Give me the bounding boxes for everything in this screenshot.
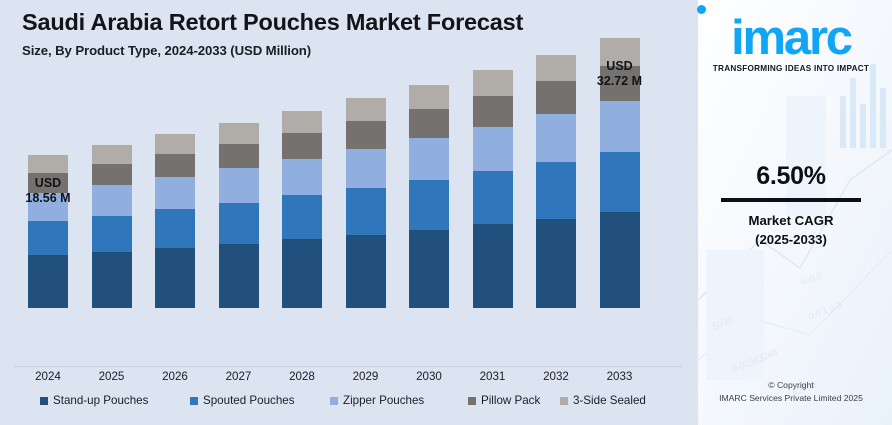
legend-item-pillow-pack[interactable]: Pillow Pack xyxy=(468,394,540,407)
x-axis-tick-2032: 2032 xyxy=(526,370,586,383)
legend-label: Pillow Pack xyxy=(481,394,540,407)
cagr-value: 6.50% xyxy=(690,162,892,191)
chart-infographic: Saudi Arabia Retort Pouches Market Forec… xyxy=(0,0,892,425)
legend-swatch-icon xyxy=(330,397,338,405)
bar-segment[interactable] xyxy=(92,185,132,215)
legend-label: Spouted Pouches xyxy=(203,394,295,407)
cagr-caption: Market CAGR (2025-2033) xyxy=(690,211,892,249)
bar-segment[interactable] xyxy=(473,96,513,127)
bar-segment[interactable] xyxy=(28,221,68,255)
stacked-bar[interactable] xyxy=(473,70,513,308)
bar-segment[interactable] xyxy=(346,121,386,148)
bar-segment[interactable] xyxy=(346,98,386,121)
bar-segment[interactable] xyxy=(282,239,322,308)
bar-segment[interactable] xyxy=(600,101,640,152)
stacked-bar[interactable] xyxy=(409,85,449,308)
stacked-bar[interactable] xyxy=(536,55,576,308)
chart-panel: Saudi Arabia Retort Pouches Market Forec… xyxy=(0,0,690,425)
copyright-block: © Copyright IMARC Services Private Limit… xyxy=(690,379,892,405)
value-label-currency: USD xyxy=(3,176,93,191)
bar-segment[interactable] xyxy=(92,252,132,308)
bar-segment[interactable] xyxy=(473,224,513,308)
bar-segment[interactable] xyxy=(536,55,576,82)
bar-segment[interactable] xyxy=(219,168,259,202)
x-axis-tick-2025: 2025 xyxy=(82,370,142,383)
bar-segment[interactable] xyxy=(409,180,449,230)
bar-segment[interactable] xyxy=(28,155,68,173)
bar-segment[interactable] xyxy=(536,81,576,114)
legend-swatch-icon xyxy=(468,397,476,405)
plot-area: USD18.56 MUSD32.72 M xyxy=(0,0,690,367)
stacked-bar[interactable] xyxy=(282,111,322,308)
bar-segment[interactable] xyxy=(155,134,195,154)
cagr-block: 6.50% Market CAGR (2025-2033) xyxy=(690,162,892,249)
legend-item-3-side-sealed[interactable]: 3-Side Sealed xyxy=(560,394,646,407)
x-axis-tick-2027: 2027 xyxy=(209,370,269,383)
bar-segment[interactable] xyxy=(282,133,322,159)
legend-swatch-icon xyxy=(40,397,48,405)
legend-item-zipper-pouches[interactable]: Zipper Pouches xyxy=(330,394,424,407)
bar-segment[interactable] xyxy=(282,159,322,196)
bar-segment[interactable] xyxy=(409,138,449,180)
legend-item-spouted-pouches[interactable]: Spouted Pouches xyxy=(190,394,295,407)
bar-segment[interactable] xyxy=(473,127,513,172)
copyright-line-1: © Copyright xyxy=(690,379,892,392)
bar-segment[interactable] xyxy=(219,123,259,144)
bar-segment[interactable] xyxy=(536,162,576,219)
copyright-line-2: IMARC Services Private Limited 2025 xyxy=(690,392,892,405)
axis-baseline xyxy=(14,366,682,367)
bar-segment[interactable] xyxy=(409,230,449,308)
stacked-bar[interactable] xyxy=(155,134,195,308)
bar-segment[interactable] xyxy=(219,244,259,308)
imarc-logo: imarc TRANSFORMING IDEAS INTO IMPACT xyxy=(690,14,892,73)
legend-label: Stand-up Pouches xyxy=(53,394,148,407)
x-axis-tick-2024: 2024 xyxy=(18,370,78,383)
bar-segment[interactable] xyxy=(346,188,386,235)
x-axis: 2024202520262027202820292030203120322033 xyxy=(0,370,690,390)
x-axis-tick-2026: 2026 xyxy=(145,370,205,383)
last-value-label: USD32.72 M xyxy=(575,59,665,90)
bar-segment[interactable] xyxy=(282,195,322,239)
bar-segment[interactable] xyxy=(28,255,68,308)
logo-tagline: TRANSFORMING IDEAS INTO IMPACT xyxy=(690,64,892,73)
cagr-label: Market CAGR xyxy=(690,211,892,230)
bar-segment[interactable] xyxy=(409,109,449,138)
cagr-period: (2025-2033) xyxy=(690,230,892,249)
bar-segment[interactable] xyxy=(219,203,259,244)
bar-segment[interactable] xyxy=(282,111,322,133)
x-axis-tick-2029: 2029 xyxy=(336,370,396,383)
value-label-amount: 32.72 M xyxy=(575,74,665,89)
bar-segment[interactable] xyxy=(346,149,386,188)
legend-item-stand-up-pouches[interactable]: Stand-up Pouches xyxy=(40,394,148,407)
value-label-amount: 18.56 M xyxy=(3,191,93,206)
bar-segment[interactable] xyxy=(155,177,195,209)
bar-segment[interactable] xyxy=(219,144,259,168)
bar-segment[interactable] xyxy=(155,209,195,248)
first-value-label: USD18.56 M xyxy=(3,176,93,207)
stacked-bar[interactable] xyxy=(219,123,259,308)
brand-panel: 500.0 5000 0.0 1 2 3 0.01563248 82788 im… xyxy=(690,0,892,425)
x-axis-tick-2028: 2028 xyxy=(272,370,332,383)
x-axis-tick-2030: 2030 xyxy=(399,370,459,383)
bar-segment[interactable] xyxy=(473,70,513,96)
bar-segment[interactable] xyxy=(92,216,132,252)
chart-legend: Stand-up PouchesSpouted PouchesZipper Po… xyxy=(0,394,690,416)
legend-label: 3-Side Sealed xyxy=(573,394,646,407)
bar-segment[interactable] xyxy=(155,248,195,308)
stacked-bar[interactable] xyxy=(92,145,132,308)
bar-segment[interactable] xyxy=(600,152,640,212)
stacked-bar[interactable] xyxy=(346,98,386,308)
bar-segment[interactable] xyxy=(346,235,386,308)
bar-segment[interactable] xyxy=(600,212,640,308)
value-label-currency: USD xyxy=(575,59,665,74)
logo-dot-icon xyxy=(697,5,706,14)
legend-label: Zipper Pouches xyxy=(343,394,424,407)
bar-segment[interactable] xyxy=(473,171,513,224)
legend-swatch-icon xyxy=(560,397,568,405)
x-axis-tick-2033: 2033 xyxy=(590,370,650,383)
bar-segment[interactable] xyxy=(409,85,449,109)
legend-swatch-icon xyxy=(190,397,198,405)
bar-segment[interactable] xyxy=(536,219,576,308)
logo-wordmark-text: imarc xyxy=(731,14,851,63)
bar-segment[interactable] xyxy=(536,114,576,162)
x-axis-tick-2031: 2031 xyxy=(463,370,523,383)
bar-segment[interactable] xyxy=(92,145,132,164)
bar-segment[interactable] xyxy=(92,164,132,185)
cagr-divider xyxy=(721,198,861,202)
bar-segment[interactable] xyxy=(155,154,195,177)
